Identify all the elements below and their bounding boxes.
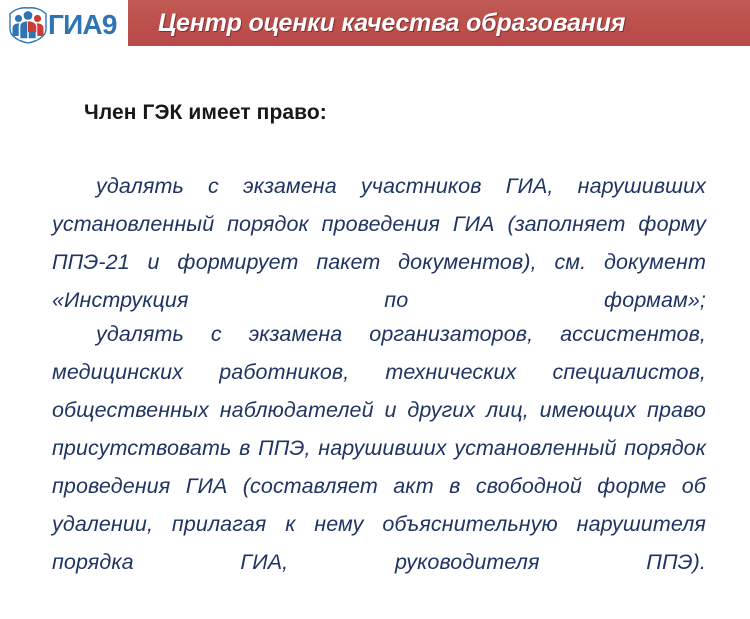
gia9-emblem-icon [6, 5, 50, 45]
page-title: Центр оценки качества образования [158, 9, 625, 38]
gia9-wordmark: ГИА9 [48, 10, 117, 40]
gia9-logo: ГИА9 [4, 5, 128, 45]
slide-root: ГИА9 Центр оценки качества образования Ч… [0, 0, 750, 561]
slide-header: ГИА9 Центр оценки качества образования [0, 0, 750, 47]
slide-content: Член ГЭК имеет право: удалять с экзамена… [0, 47, 750, 561]
paragraph-remove-staff: удалять с экзамена организаторов, ассист… [52, 315, 706, 619]
header-title-banner: Центр оценки качества образования [128, 0, 750, 46]
section-heading: Член ГЭК имеет право: [84, 101, 327, 125]
